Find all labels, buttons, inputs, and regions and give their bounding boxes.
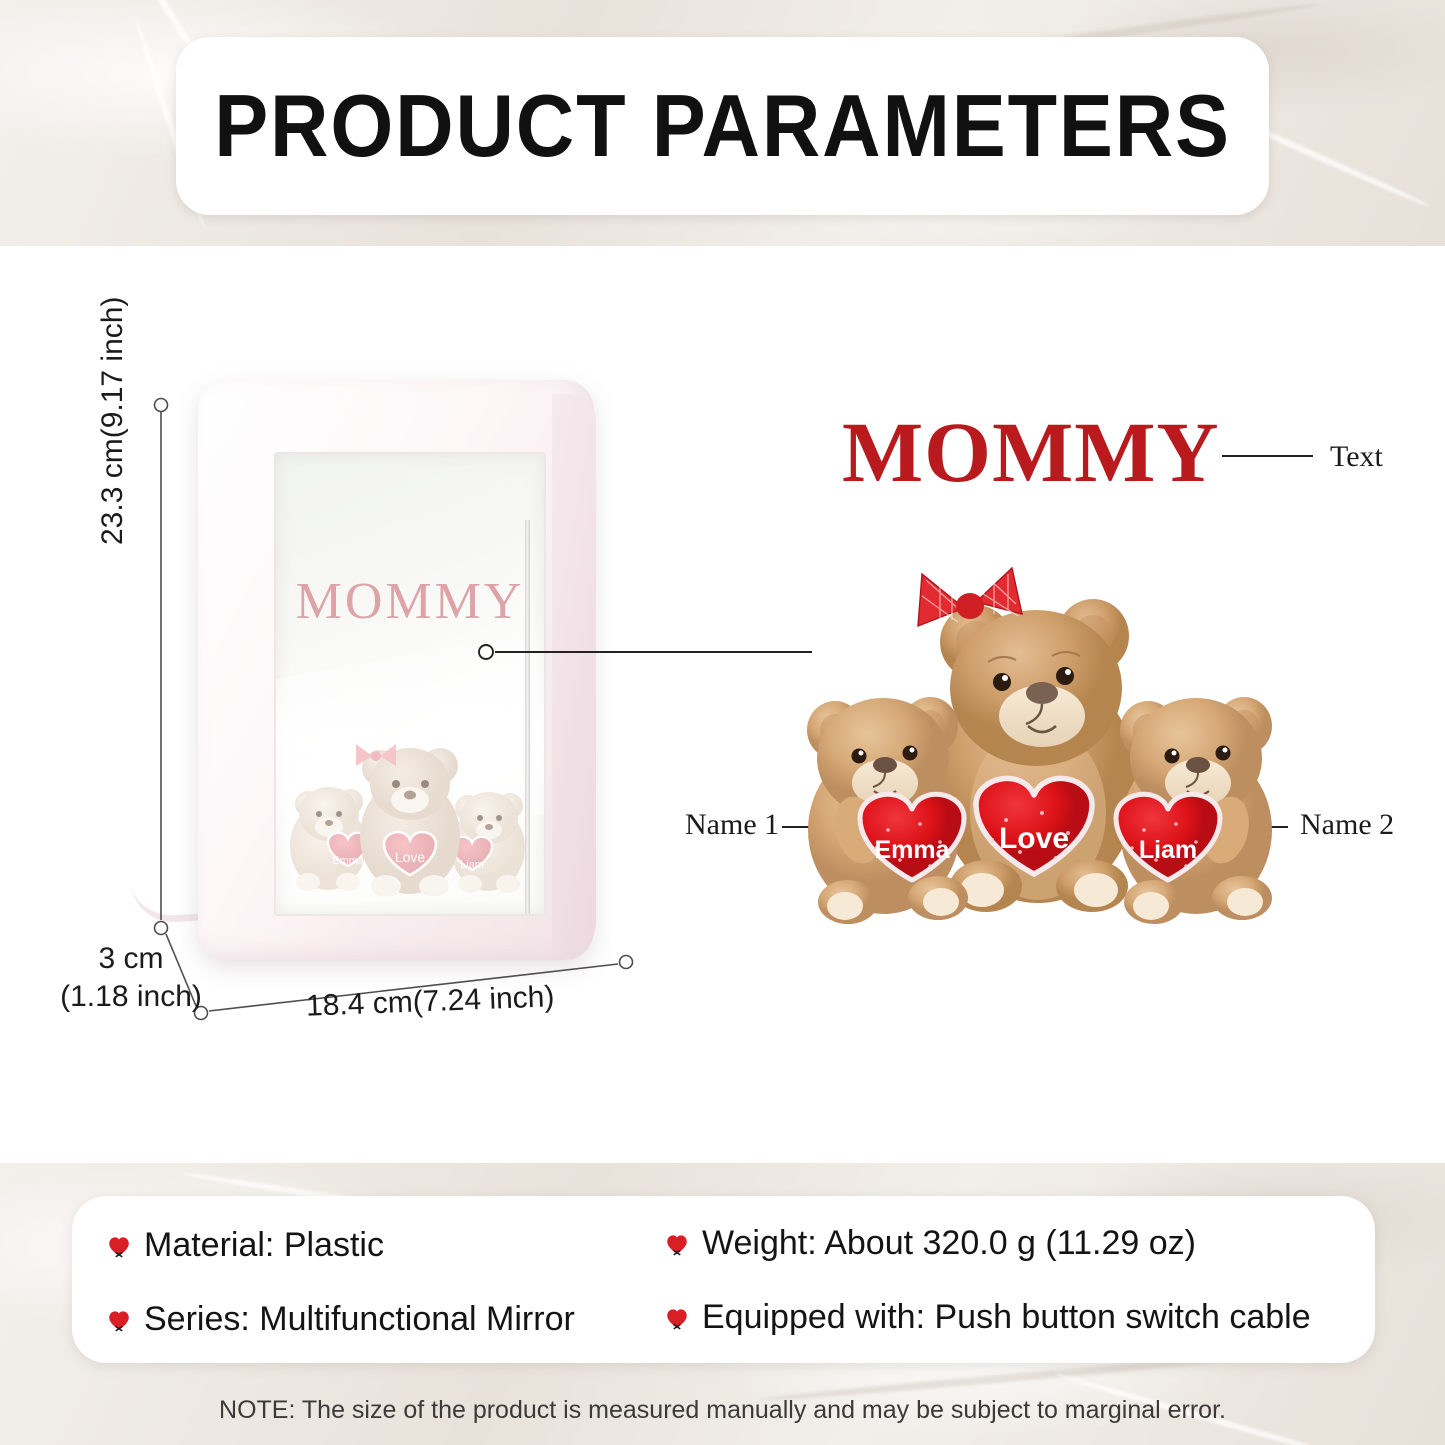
product-parameters-infographic: PRODUCT PARAMETERS MOMMY <box>0 0 1445 1445</box>
heart-icon <box>106 1233 132 1259</box>
dimension-height-label: 23.3 cm(9.17 inch) <box>96 297 130 545</box>
svg-text:Liam: Liam <box>460 859 484 871</box>
spec-item-material: Material: Plastic <box>106 1226 384 1265</box>
frame-side-edge <box>552 394 596 950</box>
mirror-frame-body: MOMMY <box>198 380 594 960</box>
svg-text:Emma: Emma <box>874 836 950 864</box>
teddy-bears-artwork: Emma Love Liam <box>780 530 1300 960</box>
svg-text:Liam: Liam <box>1139 836 1197 864</box>
svg-text:Love: Love <box>999 822 1069 855</box>
spec-label: Equipped with: Push button switch cable <box>702 1298 1311 1337</box>
dimension-depth-inch: (1.18 inch) <box>36 978 226 1016</box>
frame-glass-panel: MOMMY <box>274 452 546 916</box>
specifications-card: Material: Plastic Series: Multifunctiona… <box>72 1196 1375 1363</box>
dimension-depth-label: 3 cm (1.18 inch) <box>36 940 226 1017</box>
svg-text:Emma: Emma <box>332 855 365 867</box>
spec-item-equipped-with: Equipped with: Push button switch cable <box>664 1298 1311 1337</box>
title-card: PRODUCT PARAMETERS <box>176 37 1269 215</box>
heart-icon <box>664 1305 690 1331</box>
spec-label: Weight: About 320.0 g (11.29 oz) <box>702 1224 1196 1263</box>
spec-item-weight: Weight: About 320.0 g (11.29 oz) <box>664 1224 1196 1263</box>
spec-label: Series: Multifunctional Mirror <box>144 1300 575 1339</box>
artwork-title: MOMMY <box>842 402 1220 502</box>
heart-icon <box>664 1231 690 1257</box>
frame-inner-title: MOMMY <box>276 572 544 631</box>
spec-item-series: Series: Multifunctional Mirror <box>106 1300 575 1339</box>
product-photo: MOMMY <box>190 372 610 972</box>
spec-label: Material: Plastic <box>144 1226 384 1265</box>
callout-text: Text <box>1330 440 1383 474</box>
frame-bear-artwork: Emma Liam <box>288 696 532 896</box>
heart-icon <box>106 1307 132 1333</box>
svg-text:Love: Love <box>395 849 426 865</box>
dimension-depth-cm: 3 cm <box>36 940 226 978</box>
page-title: PRODUCT PARAMETERS <box>214 75 1231 177</box>
callout-name-1: Name 1 <box>685 808 779 842</box>
glass-inner-edge <box>525 520 530 916</box>
callout-name-2: Name 2 <box>1300 808 1394 842</box>
disclaimer-note: NOTE: The size of the product is measure… <box>0 1396 1445 1425</box>
